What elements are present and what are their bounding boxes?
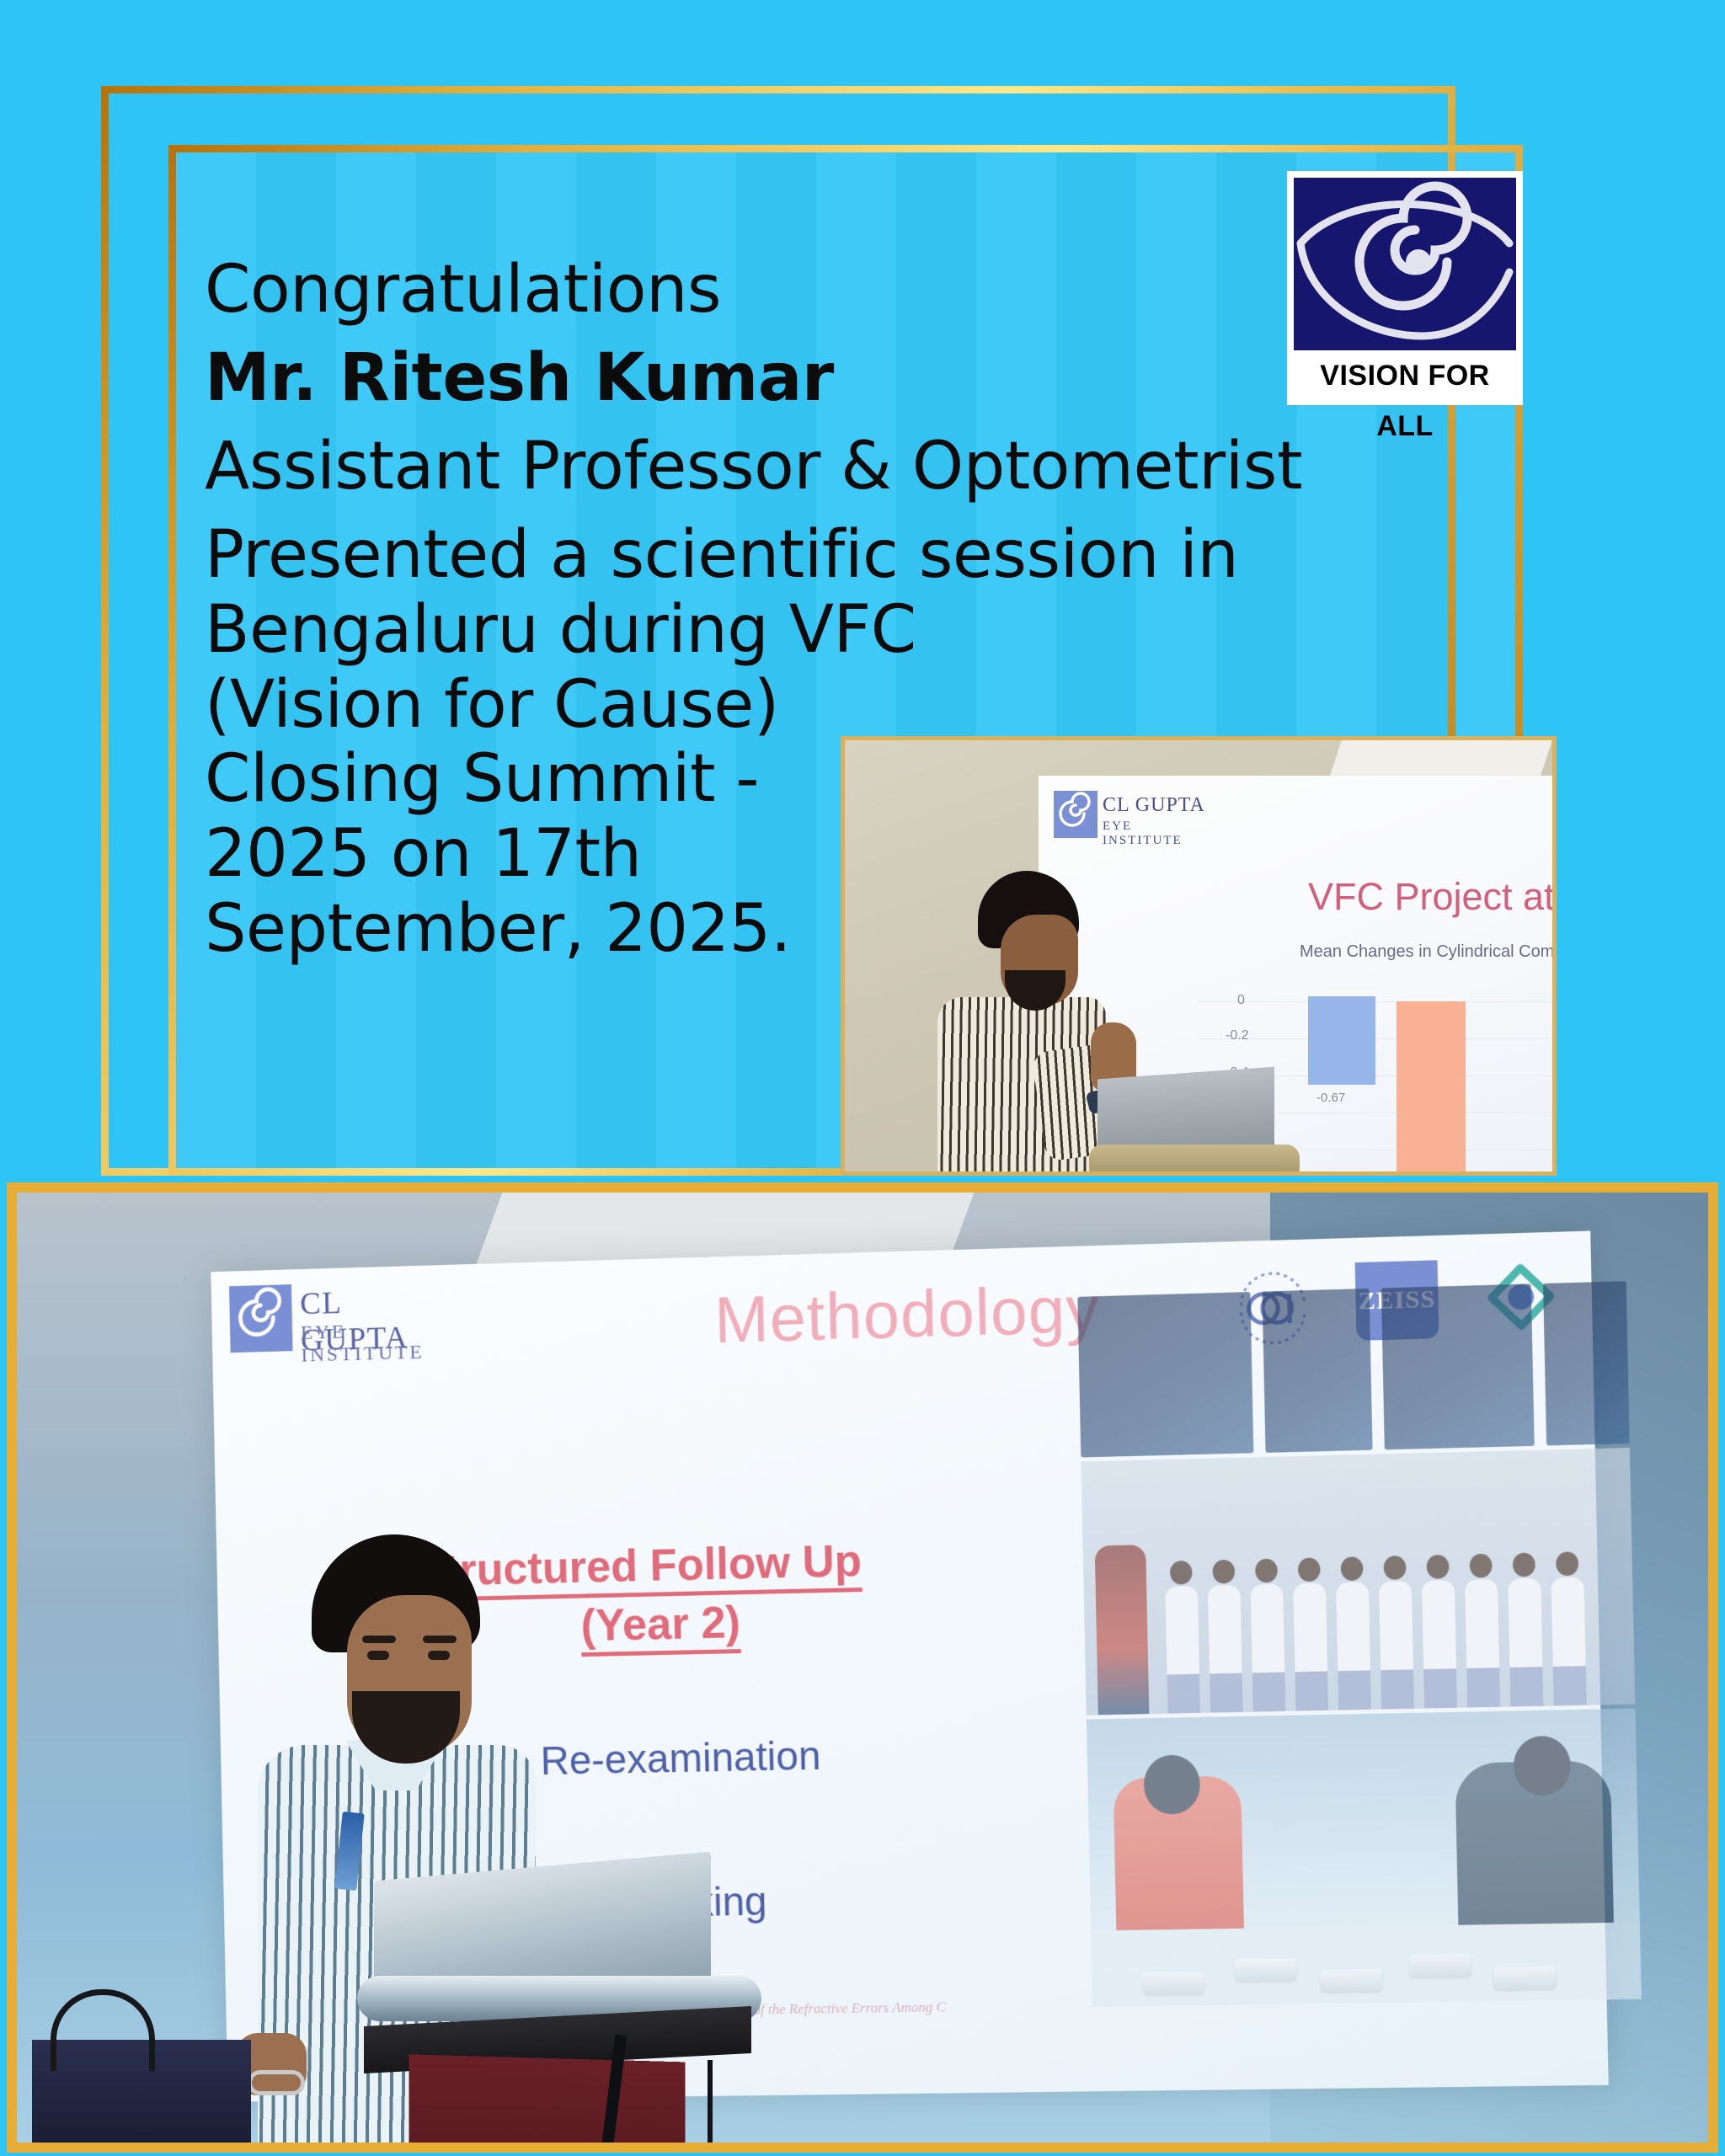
inset-presenter-figure <box>937 871 1119 1176</box>
poster-top-card: Congratulations Mr. Ritesh Kumar Assista… <box>0 0 1725 1176</box>
inset-bar-value-label: -0.67 <box>1316 1091 1345 1105</box>
main-slide-title: Methodology <box>713 1271 1100 1358</box>
cl-gupta-logo-inset: CL GUPTA EYE INSTITUTE <box>1054 791 1205 843</box>
poster-line-congratulations: Congratulations <box>205 253 1401 328</box>
poster-line-location: Bengaluru during VFC <box>205 593 1401 668</box>
inset-bar-series-1 <box>1308 996 1375 1085</box>
inset-slide-subtitle: Mean Changes in Cylindrical Com <box>1300 942 1554 962</box>
cl-gupta-name-inset: CL GUPTA <box>1103 794 1205 817</box>
poster-line-designation: Assistant Professor & Optometrist <box>205 430 1401 504</box>
cl-gupta-logo-main: CL GUPTA EYE INSTITUTE <box>229 1280 445 1361</box>
presenter-inset-photo: CL GUPTA EYE INSTITUTE VFC Project at C … <box>841 736 1557 1176</box>
podium-cable <box>708 2060 822 2153</box>
presenter-main-photo: CL GUPTA EYE INSTITUTE Methodology ZEISS <box>7 1182 1718 2153</box>
main-podium <box>357 1976 761 2153</box>
cl-gupta-mark-icon <box>1054 791 1097 838</box>
poster-line-name: Mr. Ritesh Kumar <box>205 341 1401 416</box>
inset-ytick-1: -0.2 <box>1226 1028 1249 1043</box>
poster-line-session: Presented a scientific session in <box>205 518 1401 593</box>
cl-gupta-sub-inset: EYE INSTITUTE <box>1103 819 1205 848</box>
vision-for-all-logo: VISION FOR ALL <box>1287 171 1523 405</box>
inset-bar-series-2 <box>1397 1001 1466 1176</box>
spiral-eye-icon <box>1294 178 1516 350</box>
inset-podium <box>1089 1145 1300 1176</box>
vision-for-all-caption: VISION FOR ALL <box>1294 350 1516 451</box>
cl-gupta-sub-main: EYE INSTITUTE <box>301 1318 445 1367</box>
cl-gupta-mark-icon-main <box>229 1284 293 1353</box>
inset-slide-title: VFC Project at C <box>1308 875 1557 919</box>
main-slide-photo-collage <box>1077 1281 1641 2007</box>
inset-ytick-0: 0 <box>1237 993 1245 1008</box>
poster-line-vfc-expansion: (Vision for Cause) <box>205 668 1401 743</box>
